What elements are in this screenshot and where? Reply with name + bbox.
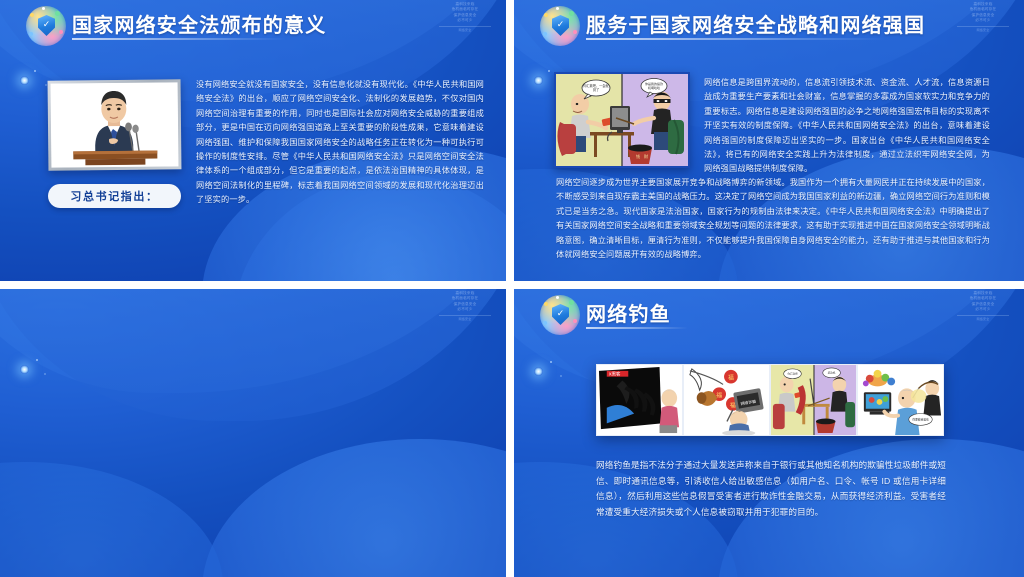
glow-dot	[534, 367, 543, 376]
slide-title: 国家网络安全法颁布的意义	[72, 9, 326, 38]
svg-text:钱: 钱	[636, 153, 640, 159]
watermark-small: 网络安全	[434, 317, 496, 322]
xi-jinping-podium-photo	[48, 79, 182, 170]
podium-speech-illustration	[51, 82, 179, 167]
phishing-comic-strip: X黑客	[596, 364, 944, 436]
title-underline	[586, 327, 688, 329]
shield-check-icon: ✓	[540, 6, 580, 46]
comic-panel: 福 福 福 网络诈骗	[683, 364, 770, 436]
svg-text:财: 财	[644, 153, 648, 159]
watermark: 高科技来临 危机面临时存在 保护信息安全 必不可少 网络安全	[434, 291, 496, 325]
watermark: 高科技来临 危机面临时存在 保护信息安全 必不可少 网络安全	[952, 2, 1014, 36]
watermark-small: 网络安全	[952, 28, 1014, 33]
title-underline	[586, 38, 886, 40]
slide-header: ✓ 国家网络安全法颁布的意义	[0, 0, 506, 48]
watermark-line-4: 必不可少	[434, 18, 496, 23]
sparkle-dot	[560, 375, 562, 377]
sparkle-dot	[34, 70, 36, 72]
watermark-line-4: 必不可少	[434, 307, 496, 312]
slide-top-left[interactable]: ✓ 国家网络安全法颁布的意义 高科技来临 危机面临时存在 保护信息安全 必不可少…	[0, 0, 506, 281]
sparkle-dot	[44, 373, 46, 375]
svg-text:福: 福	[716, 391, 722, 399]
svg-text:机啊哈哈: 机啊哈哈	[648, 85, 660, 90]
svg-text:X黑客: X黑客	[609, 371, 621, 378]
quote-pill: 习总书记指出：	[48, 184, 181, 208]
sparkle-dot	[550, 361, 552, 363]
watermark: 高科技来临 危机面临时存在 保护信息安全 必不可少 网络安全	[952, 291, 1014, 325]
title-underline	[72, 38, 286, 40]
slide1-body-text: 没有网络安全就没有国家安全，没有信息化就没有现代化。《中华人民共和国网络安全法》…	[196, 78, 484, 208]
svg-text:到了: 到了	[593, 87, 599, 92]
sparkle-dot	[548, 70, 550, 72]
watermark: 高科技来临 危机面临时存在 保护信息安全 必不可少 网络安全	[434, 2, 496, 36]
shield-check-icon: ✓	[26, 6, 66, 46]
slide-title: 网络钓鱼	[586, 298, 671, 327]
shield-check-icon: ✓	[540, 295, 580, 335]
slide-bottom-left[interactable]: 高科技来临 危机面临时存在 保护信息安全 必不可少 网络安全	[0, 289, 506, 577]
glow-dot	[534, 76, 543, 85]
svg-text:你要被我骗啦: 你要被我骗啦	[912, 417, 929, 421]
sparkle-dot	[36, 359, 38, 361]
slide2-body-text-2: 网络空间逐步成为世界主要国家展开竞争和战略博弈的新领域。我国作为一个拥有大量网民…	[556, 176, 990, 262]
slide-header: ✓ 服务于国家网络安全战略和网络强国	[514, 0, 1024, 48]
glow-dot	[20, 76, 29, 85]
phishing-cartoon-two-panel: 你汇款吧，一会就 到了	[554, 72, 690, 168]
watermark-line-4: 必不可少	[952, 307, 1014, 312]
slide2-body-text-1: 网络信息是跨国界流动的，信息流引领技术流、资金流、人才流，信息资源日益成为重要生…	[704, 76, 990, 177]
slide-grid: ✓ 国家网络安全法颁布的意义 高科技来临 危机面临时存在 保护信息安全 必不可少…	[0, 0, 1024, 577]
watermark-small: 网络安全	[952, 317, 1014, 322]
slide-title: 服务于国家网络安全战略和网络强国	[586, 9, 925, 38]
comic-panel: 你汇款吧 提款机	[770, 364, 857, 436]
slide-bottom-right[interactable]: ✓ 网络钓鱼 高科技来临 危机面临时存在 保护信息安全 必不可少 网络安全 X黑…	[514, 289, 1024, 577]
glow-dot	[20, 365, 29, 374]
svg-text:提款机: 提款机	[828, 371, 836, 375]
svg-text:你汇款吧: 你汇款吧	[787, 372, 798, 376]
watermark-line-4: 必不可少	[952, 18, 1014, 23]
comic-panel: 你要被我骗啦	[857, 364, 944, 436]
comic-panel: X黑客	[596, 364, 683, 436]
quote-pill-label: 习总书记指出：	[70, 188, 158, 204]
svg-text:福: 福	[728, 374, 734, 382]
slide4-body-text: 网络钓鱼是指不法分子通过大量发送声称来自于银行或其他知名机构的欺骗性垃圾邮件或短…	[596, 458, 946, 520]
slide-header: ✓ 网络钓鱼	[514, 289, 1024, 337]
watermark-small: 网络安全	[434, 28, 496, 33]
slide-top-right[interactable]: ✓ 服务于国家网络安全战略和网络强国 高科技来临 危机面临时存在 保护信息安全 …	[514, 0, 1024, 281]
